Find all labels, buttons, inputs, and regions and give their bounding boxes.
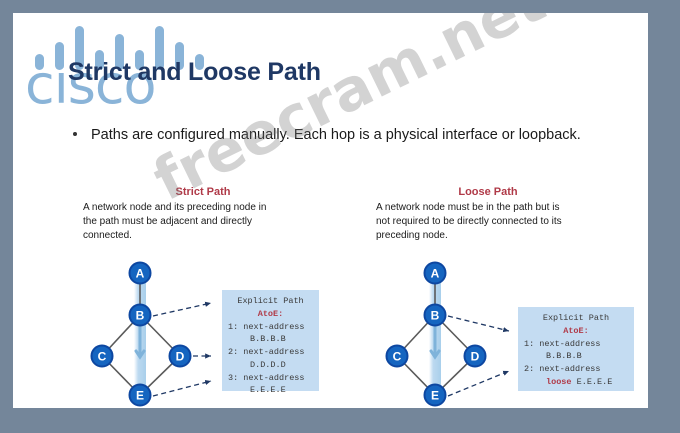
codebox-label: AtoE: xyxy=(228,308,313,321)
codebox-lines: 1: next-addressB.B.B.B2: next-addressD.D… xyxy=(228,321,313,398)
loose-path-description: A network node must be in the path but i… xyxy=(376,201,571,242)
network-graph: ABCDE xyxy=(383,253,513,408)
network-node-b[interactable]: B xyxy=(130,305,151,326)
code-line: 1: next-address xyxy=(524,338,628,351)
slide-canvas: cisco Strict and Loose Path Paths are co… xyxy=(13,13,648,408)
bullet-dot-icon xyxy=(73,132,77,136)
code-line: B.B.B.B xyxy=(228,333,313,346)
node-label: B xyxy=(431,309,440,323)
network-node-c[interactable]: C xyxy=(92,346,113,367)
network-node-e[interactable]: E xyxy=(425,385,446,406)
code-line: B.B.B.B xyxy=(524,350,628,363)
network-graph: ABCDE xyxy=(88,253,218,408)
node-label: E xyxy=(136,389,144,403)
code-line: D.D.D.D xyxy=(228,359,313,372)
loose-path-heading: Loose Path xyxy=(393,186,583,198)
network-node-a[interactable]: A xyxy=(425,263,446,284)
page-title: Strict and Loose Path xyxy=(68,58,321,87)
node-label: D xyxy=(471,350,480,364)
codebox-title: Explicit Path xyxy=(524,312,628,325)
node-label: A xyxy=(136,267,145,281)
code-keyword: loose xyxy=(546,377,572,387)
strict-path-network-diagram: ABCDE xyxy=(88,253,218,403)
code-line: 2: next-address xyxy=(228,346,313,359)
loose-path-network-diagram: ABCDE xyxy=(383,253,513,403)
network-node-b[interactable]: B xyxy=(425,305,446,326)
node-label: D xyxy=(176,350,185,364)
code-line: loose E.E.E.E xyxy=(524,376,628,389)
network-node-c[interactable]: C xyxy=(387,346,408,367)
node-label: E xyxy=(431,389,439,403)
loose-explicit-path-codebox: Explicit Path AtoE: 1: next-addressB.B.B… xyxy=(518,307,634,391)
network-node-e[interactable]: E xyxy=(130,385,151,406)
node-label: C xyxy=(98,350,107,364)
network-node-d[interactable]: D xyxy=(170,346,191,367)
codebox-title: Explicit Path xyxy=(228,295,313,308)
strict-path-description: A network node and its preceding node in… xyxy=(83,201,278,242)
node-label: B xyxy=(136,309,145,323)
code-line: 1: next-address xyxy=(228,321,313,334)
strict-path-heading: Strict Path xyxy=(108,186,298,198)
node-label: A xyxy=(431,267,440,281)
network-node-a[interactable]: A xyxy=(130,263,151,284)
bullet-item: Paths are configured manually. Each hop … xyxy=(73,125,593,146)
strict-explicit-path-codebox: Explicit Path AtoE: 1: next-addressB.B.B… xyxy=(222,290,319,391)
network-node-d[interactable]: D xyxy=(465,346,486,367)
codebox-lines: 1: next-addressB.B.B.B2: next-addressloo… xyxy=(524,338,628,389)
code-line: E.E.E.E xyxy=(228,384,313,397)
bullet-text: Paths are configured manually. Each hop … xyxy=(91,125,593,146)
codebox-label: AtoE: xyxy=(524,325,628,338)
code-line: 3: next-address xyxy=(228,372,313,385)
code-line: 2: next-address xyxy=(524,363,628,376)
node-label: C xyxy=(393,350,402,364)
